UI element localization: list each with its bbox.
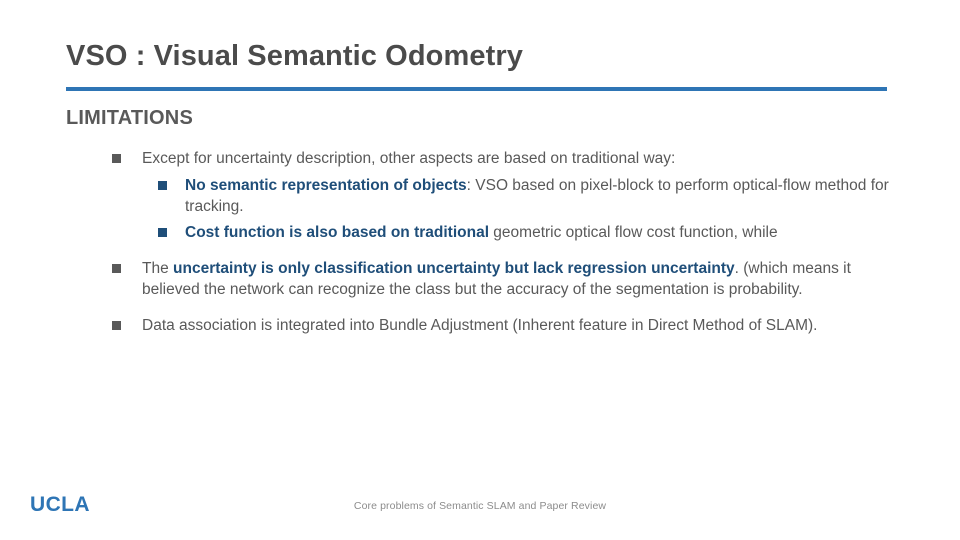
bullet-text: Except for uncertainty description, othe… bbox=[121, 148, 675, 169]
page-title: VSO : Visual Semantic Odometry bbox=[66, 38, 886, 74]
bullet-lead: The bbox=[142, 260, 173, 277]
sub-bullet-text: No semantic representation of objects: V… bbox=[167, 175, 902, 217]
title-block: VSO : Visual Semantic Odometry bbox=[66, 38, 886, 74]
sub-bullet-item-2: Cost function is also based on tradition… bbox=[158, 222, 902, 243]
square-bullet-icon bbox=[112, 321, 121, 330]
bullet-item-3: Data association is integrated into Bund… bbox=[112, 315, 902, 336]
bullet-item-2: The uncertainty is only classification u… bbox=[112, 258, 902, 300]
square-bullet-icon bbox=[158, 228, 167, 237]
bullet-row: Except for uncertainty description, othe… bbox=[112, 148, 902, 169]
sub-bullet-rest: geometric optical flow cost function, wh… bbox=[489, 224, 778, 241]
emphasis-text: uncertainty is only classification uncer… bbox=[173, 260, 735, 277]
bullet-item-1: Except for uncertainty description, othe… bbox=[112, 148, 902, 243]
bullet-text: The uncertainty is only classification u… bbox=[121, 258, 902, 300]
bullet-text: Data association is integrated into Bund… bbox=[121, 315, 817, 336]
sub-bullet-list: No semantic representation of objects: V… bbox=[112, 175, 902, 243]
title-underline-rule bbox=[66, 87, 887, 91]
section-heading: LIMITATIONS bbox=[66, 107, 193, 130]
sub-bullet-item-1: No semantic representation of objects: V… bbox=[158, 175, 902, 217]
bullet-row: The uncertainty is only classification u… bbox=[112, 258, 902, 300]
sub-bullet-text: Cost function is also based on tradition… bbox=[167, 222, 778, 243]
emphasis-text: Cost function is also based on tradition… bbox=[185, 224, 489, 241]
bullet-row: Data association is integrated into Bund… bbox=[112, 315, 902, 336]
emphasis-text: No semantic representation of objects bbox=[185, 177, 467, 194]
body-content: Except for uncertainty description, othe… bbox=[112, 148, 902, 336]
slide-canvas: VSO : Visual Semantic Odometry LIMITATIO… bbox=[0, 0, 960, 540]
square-bullet-icon bbox=[158, 181, 167, 190]
square-bullet-icon bbox=[112, 264, 121, 273]
footer-caption: Core problems of Semantic SLAM and Paper… bbox=[0, 500, 960, 512]
square-bullet-icon bbox=[112, 154, 121, 163]
